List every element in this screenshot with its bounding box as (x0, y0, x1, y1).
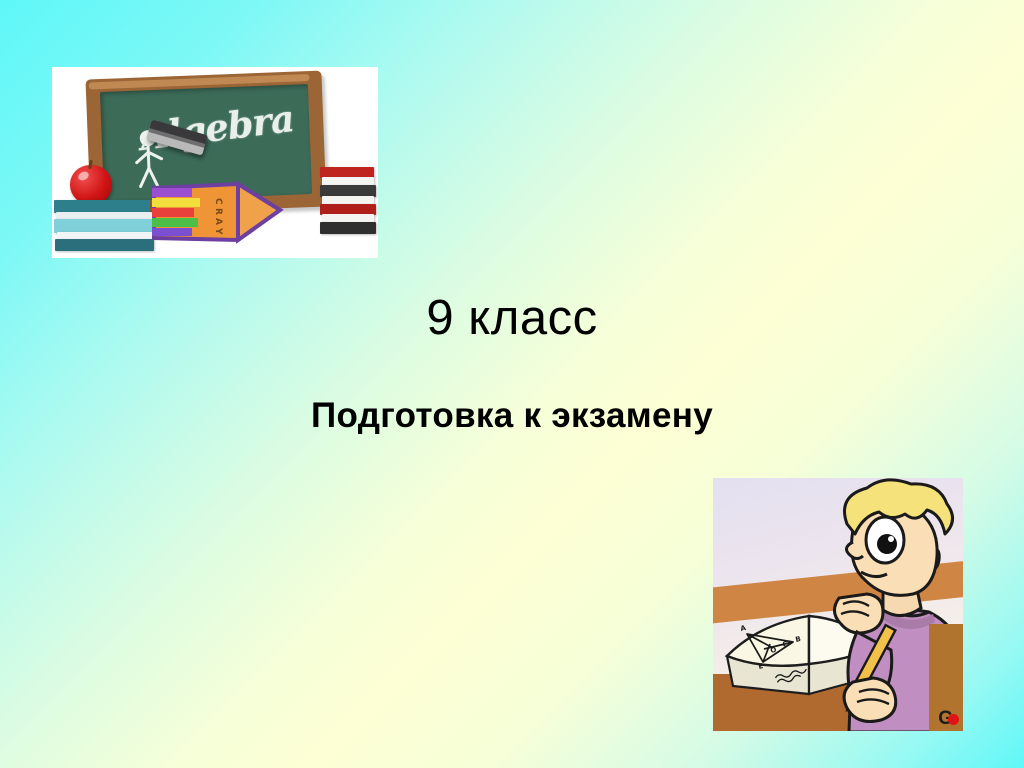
apple-icon (70, 165, 112, 205)
algebra-chalkboard-image[interactable]: Algebra (52, 67, 378, 258)
slide-title: 9 класс (0, 292, 1024, 345)
apple-shine (77, 170, 90, 182)
crayon-box-icon: C R A Y (152, 180, 284, 246)
watermark-logo: G (938, 709, 959, 728)
svg-text:R: R (213, 208, 223, 215)
svg-text:A: A (740, 624, 748, 633)
watermark-logo-dot (948, 714, 959, 725)
slide-subtitle: Подготовка к экзамену (0, 397, 1024, 435)
svg-text:Y: Y (213, 227, 223, 235)
presentation-slide: Algebra (0, 0, 1024, 768)
svg-text:C: C (213, 198, 223, 205)
svg-text:A: A (213, 218, 223, 225)
algebra-clipart-art: Algebra (52, 67, 378, 258)
student-clipart-art: A B C O E (713, 478, 963, 731)
student-thinking-image[interactable]: A B C O E (713, 478, 963, 731)
